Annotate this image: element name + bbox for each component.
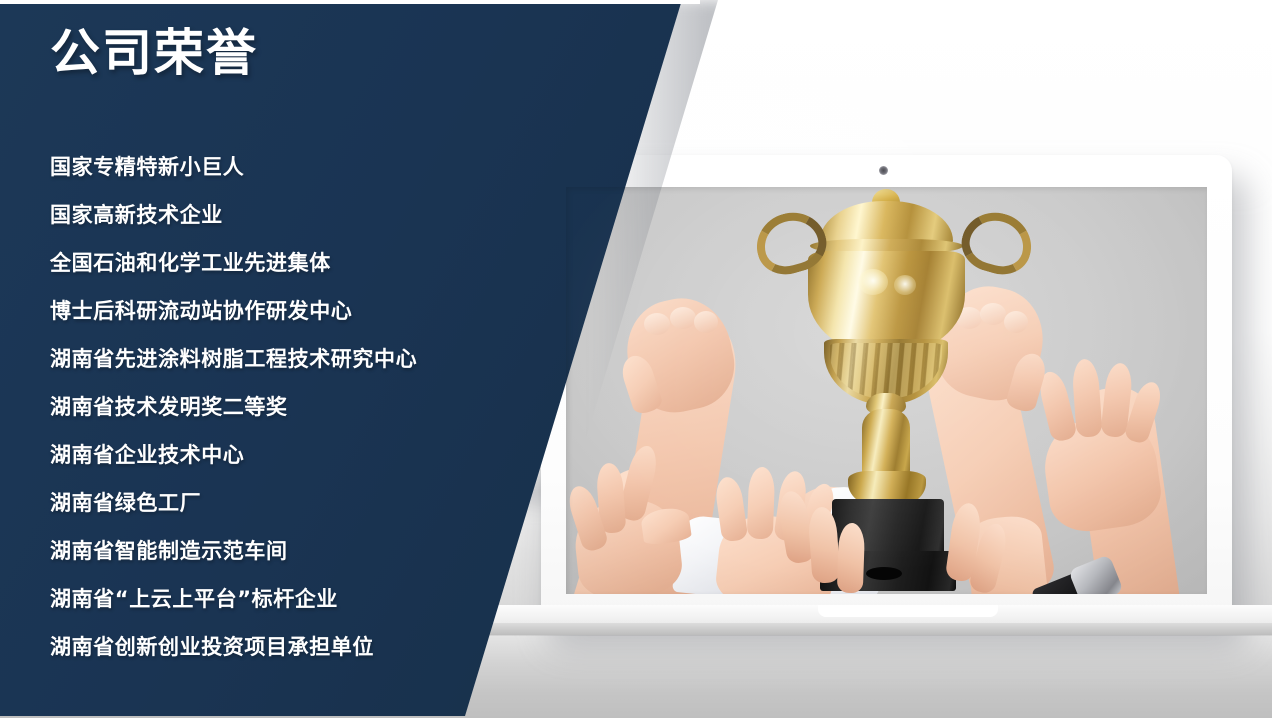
trophy-highlight-1 <box>858 269 888 295</box>
laptop-base-top <box>428 605 1272 624</box>
laptop-screen <box>566 187 1207 594</box>
list-item: 湖南省创新创业投资项目承担单位 <box>50 623 520 671</box>
list-item: 博士后科研流动站协作研发中心 <box>50 287 520 335</box>
panel-content: 公司荣誉 国家专精特新小巨人 国家高新技术企业 全国石油和化学工业先进集体 博士… <box>50 0 520 718</box>
trophy-highlight-2 <box>894 275 916 295</box>
list-item: 国家高新技术企业 <box>50 191 520 239</box>
laptop-base-front <box>428 623 1272 635</box>
page-title: 公司荣誉 <box>50 24 258 83</box>
laptop-base <box>428 605 1272 635</box>
knuckle-left-2 <box>670 307 696 329</box>
hand-open-right <box>1032 367 1182 537</box>
hand-open-left <box>570 445 704 594</box>
honor-list: 国家专精特新小巨人 国家高新技术企业 全国石油和化学工业先进集体 博士后科研流动… <box>50 143 520 671</box>
list-item: 湖南省“上云上平台”标杆企业 <box>50 575 520 623</box>
list-item: 湖南省先进涂料树脂工程技术研究中心 <box>50 335 520 383</box>
knuckle-left-3 <box>694 311 718 333</box>
trophy-photo <box>566 187 1207 594</box>
finger-M-1 <box>714 476 749 543</box>
list-item: 国家专精特新小巨人 <box>50 143 520 191</box>
webcam-icon <box>879 166 888 175</box>
list-item: 湖南省绿色工厂 <box>50 479 520 527</box>
list-item: 湖南省智能制造示范车间 <box>50 527 520 575</box>
finger-R-2 <box>1071 358 1102 438</box>
finger-base-3 <box>837 523 865 594</box>
list-item: 湖南省企业技术中心 <box>50 431 520 479</box>
trophy-base-slot <box>866 567 902 580</box>
list-item: 湖南省技术发明奖二等奖 <box>50 383 520 431</box>
slide-root: 公司荣誉 国家专精特新小巨人 国家高新技术企业 全国石油和化学工业先进集体 博士… <box>0 0 1272 718</box>
trophy-handle-right <box>955 205 1039 282</box>
laptop-trackpad-notch <box>818 604 998 617</box>
list-item: 全国石油和化学工业先进集体 <box>50 239 520 287</box>
knuckle-left-1 <box>644 313 670 335</box>
